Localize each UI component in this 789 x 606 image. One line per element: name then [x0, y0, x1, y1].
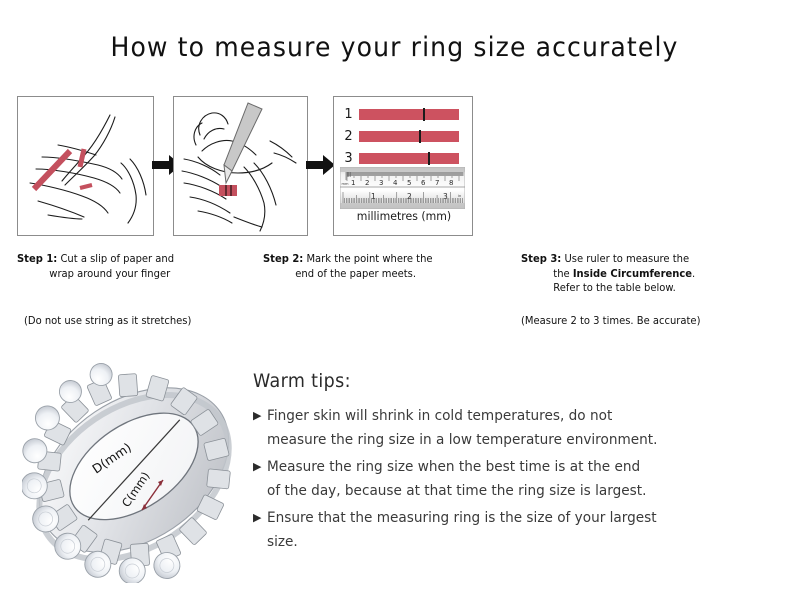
ruler-icon: 123 456 78 mm 123 in	[340, 167, 465, 209]
strip-2	[359, 131, 459, 142]
bullet-triangle-icon: ▶	[253, 404, 267, 428]
warm-tip-text-3: Ensure that the measuring ring is the si…	[267, 506, 657, 554]
step-3-caption: Step 3: Use ruler to measure the the Ins…	[521, 252, 778, 296]
diamond-eternity-ring-photo: D(mm) C(mm)	[22, 358, 252, 583]
paper-strip-wrapped-marked	[219, 185, 237, 196]
warm-tip-item: ▶ Ensure that the measuring ring is the …	[253, 506, 723, 554]
bullet-triangle-icon: ▶	[253, 506, 267, 530]
svg-text:in: in	[458, 194, 461, 198]
step-3-panel: 1 2 3	[333, 96, 473, 236]
paper-strip-wrapped	[80, 149, 84, 167]
svg-text:5: 5	[407, 179, 411, 187]
step-3-note: (Measure 2 to 3 times. Be accurate)	[521, 315, 700, 327]
paper-strip-loose	[34, 151, 70, 189]
step-3-line2-pre: the	[553, 268, 573, 280]
strip-number-3: 3	[342, 151, 355, 166]
strip-1-mark	[423, 108, 425, 121]
step-3-line3: Refer to the table below.	[521, 281, 778, 296]
step-3-number: Step 3:	[521, 253, 561, 265]
strip-number-2: 2	[342, 129, 355, 144]
step-2-line1: Mark the point where the	[306, 253, 432, 265]
warm-tips-list: ▶ Finger skin will shrink in cold temper…	[253, 404, 723, 557]
warm-tip-item: ▶ Finger skin will shrink in cold temper…	[253, 404, 723, 452]
page-title: How to measure your ring size accurately	[28, 32, 762, 63]
step-2-line2: end of the paper meets.	[263, 267, 501, 282]
step-2-panel	[173, 96, 308, 236]
ruler-unit-label: millimetres (mm)	[338, 209, 471, 223]
step-3-line2-bold: Inside Circumference	[573, 268, 692, 280]
step-1-line2: wrap around your finger	[17, 267, 255, 282]
step-2-caption: Step 2: Mark the point where the end of …	[263, 252, 501, 281]
step-3-line1: Use ruler to measure the	[564, 253, 689, 265]
step-1-number: Step 1:	[17, 253, 57, 265]
strip-number-1: 1	[342, 107, 355, 122]
svg-text:6: 6	[421, 179, 426, 187]
svg-text:3: 3	[379, 179, 383, 187]
strip-3-mark	[428, 152, 430, 165]
hand-marking-paper-with-pen-illustration	[174, 97, 307, 235]
svg-text:7: 7	[435, 179, 439, 187]
step-1-panel	[17, 96, 154, 236]
ring-size-guide-page: How to measure your ring size accurately	[0, 0, 789, 606]
measured-strip-row-3: 3	[342, 151, 459, 166]
arrow-right-icon-2	[306, 154, 336, 176]
step-2-number: Step 2:	[263, 253, 303, 265]
paper-strip-end	[80, 185, 92, 188]
step-1-line1: Cut a slip of paper and	[60, 253, 174, 265]
warm-tip-text-1: Finger skin will shrink in cold temperat…	[267, 404, 657, 452]
strip-3	[359, 153, 459, 164]
svg-text:2: 2	[407, 192, 412, 201]
bullet-triangle-icon: ▶	[253, 455, 267, 479]
strip-1	[359, 109, 459, 120]
measured-strip-row-1: 1	[342, 107, 459, 122]
svg-text:2: 2	[365, 179, 369, 187]
measured-strip-row-2: 2	[342, 129, 459, 144]
step-3-line2-post: .	[692, 268, 695, 280]
step-1-note: (Do not use string as it stretches)	[24, 315, 191, 327]
hand-with-paper-strip-illustration	[18, 97, 153, 235]
step-1-caption: Step 1: Cut a slip of paper and wrap aro…	[17, 252, 255, 281]
strip-2-mark	[419, 130, 421, 143]
svg-text:mm: mm	[342, 182, 350, 186]
svg-text:4: 4	[393, 179, 398, 187]
warm-tips-heading: Warm tips:	[253, 370, 351, 392]
warm-tip-item: ▶ Measure the ring size when the best ti…	[253, 455, 723, 503]
svg-text:8: 8	[449, 179, 453, 187]
step-3-line2: the Inside Circumference.	[521, 267, 778, 282]
warm-tip-text-2: Measure the ring size when the best time…	[267, 455, 646, 503]
svg-text:1: 1	[351, 179, 355, 187]
